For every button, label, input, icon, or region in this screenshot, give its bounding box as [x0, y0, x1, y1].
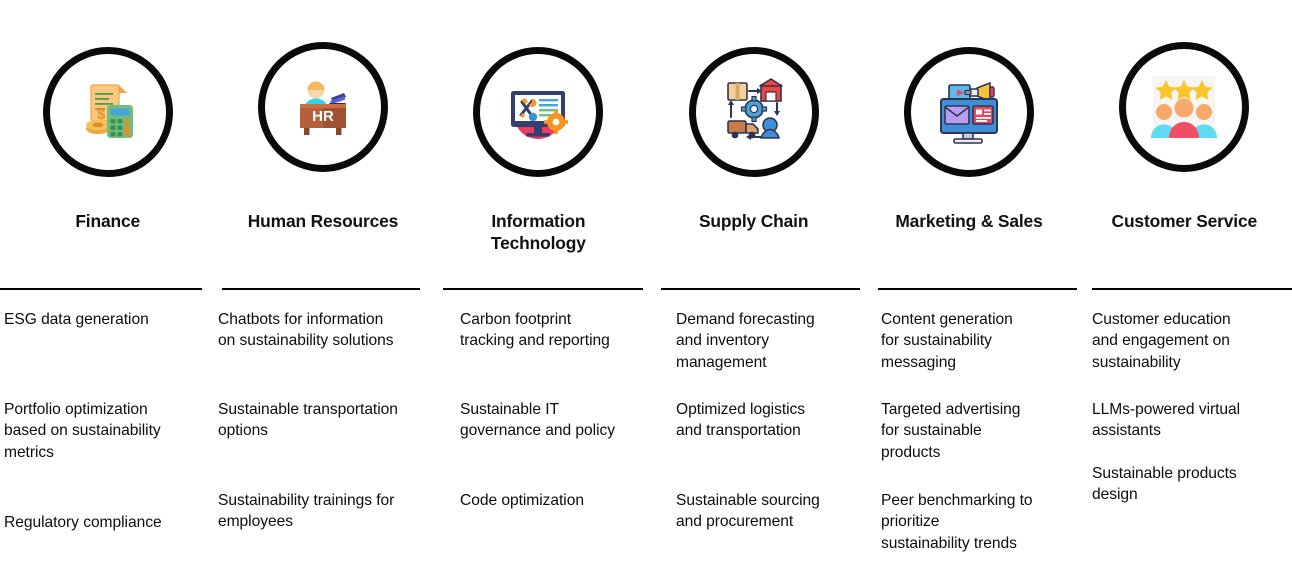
hr-desk-icon: HR: [286, 70, 360, 144]
list-item: Sustainability trainings for employees: [218, 490, 394, 533]
marketing-monitor-megaphone-icon: [932, 75, 1006, 149]
list-item: Code optimization: [460, 490, 584, 511]
divider-customer-service: [1092, 288, 1292, 290]
list-item: Carbon footprint tracking and reporting: [460, 309, 610, 352]
svg-text:HR: HR: [312, 108, 334, 125]
list-item: Regulatory compliance: [4, 512, 162, 533]
medallion-information-technology: [473, 47, 603, 177]
list-item: Sustainable products design: [1092, 463, 1237, 506]
divider-finance: [0, 288, 202, 290]
list-item: Demand forecasting and inventory managem…: [676, 309, 815, 373]
list-item: Content generation for sustainability me…: [881, 309, 1013, 373]
infographic-board: $: [0, 0, 1292, 588]
divider-human-resources: [222, 288, 420, 290]
list-item: ESG data generation: [4, 309, 149, 330]
heading-customer-service: Customer Service: [1077, 210, 1292, 232]
supply-chain-network-icon: [717, 75, 791, 149]
medallion-wrap-finance: $: [0, 47, 215, 193]
list-item: Optimized logistics and transportation: [676, 399, 805, 442]
list-item: LLMs-powered virtual assistants: [1092, 399, 1240, 442]
divider-marketing-sales: [878, 288, 1077, 290]
medallion-wrap-marketing-sales: [861, 47, 1076, 193]
column-finance: $: [0, 0, 215, 588]
divider-supply-chain: [661, 288, 860, 290]
medallion-wrap-customer-service: [1077, 47, 1292, 193]
medallion-wrap-supply-chain: [646, 47, 861, 193]
medallion-human-resources: HR: [258, 42, 388, 172]
heading-finance: Finance: [0, 210, 215, 232]
medallion-finance: $: [43, 47, 173, 177]
list-item: Sustainable transportation options: [218, 399, 398, 442]
heading-human-resources: Human Resources: [215, 210, 430, 232]
heading-supply-chain: Supply Chain: [646, 210, 861, 232]
heading-marketing-sales: Marketing & Sales: [861, 210, 1076, 232]
divider-information-technology: [443, 288, 643, 290]
medallion-wrap-information-technology: [431, 47, 646, 193]
heading-information-technology: Information Technology: [431, 210, 646, 255]
list-item: Chatbots for information on sustainabili…: [218, 309, 393, 352]
medallion-marketing-sales: [904, 47, 1034, 177]
list-item: Sustainable IT governance and policy: [460, 399, 615, 442]
medallion-customer-service: [1119, 42, 1249, 172]
list-item: Customer education and engagement on sus…: [1092, 309, 1231, 373]
medallion-supply-chain: [689, 47, 819, 177]
it-monitor-tools-icon: [501, 75, 575, 149]
list-item: Targeted advertising for sustainable pro…: [881, 399, 1020, 463]
list-item: Sustainable sourcing and procurement: [676, 490, 820, 533]
customer-service-stars-people-icon: [1147, 70, 1221, 144]
medallion-wrap-human-resources: HR: [215, 47, 430, 193]
list-item: Portfolio optimization based on sustaina…: [4, 399, 161, 463]
list-item: Peer benchmarking to prioritize sustaina…: [881, 490, 1033, 554]
finance-invoice-calculator-icon: $: [71, 75, 145, 149]
